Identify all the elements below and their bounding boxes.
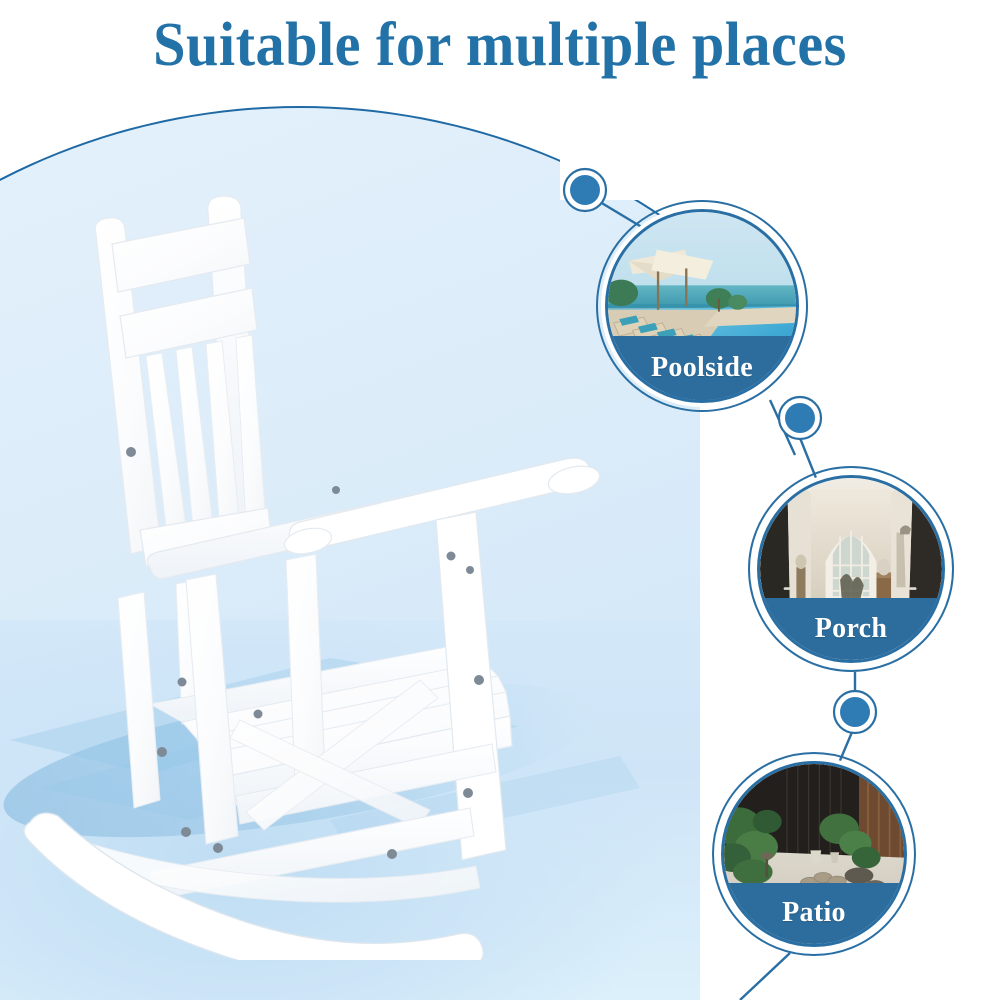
place-label: Patio — [782, 897, 846, 929]
circle-inner-ring: Poolside — [605, 209, 799, 403]
place-label-band: Porch — [760, 598, 942, 660]
circle-inner-ring: Porch — [757, 475, 945, 663]
place-label-band: Poolside — [608, 336, 796, 400]
page-title: Suitable for multiple places — [30, 14, 970, 76]
place-circle-patio[interactable]: Patio — [712, 752, 916, 956]
place-label: Poolside — [651, 352, 753, 384]
circle-inner-ring: Patio — [721, 761, 907, 947]
place-label: Porch — [815, 613, 888, 645]
product-image-rocking-chair — [0, 160, 700, 960]
place-circle-porch[interactable]: Porch — [748, 466, 954, 672]
place-label-band: Patio — [724, 883, 904, 944]
marketing-image: Suitable for multiple places — [0, 0, 1000, 1000]
place-circle-poolside[interactable]: Poolside — [596, 200, 808, 412]
